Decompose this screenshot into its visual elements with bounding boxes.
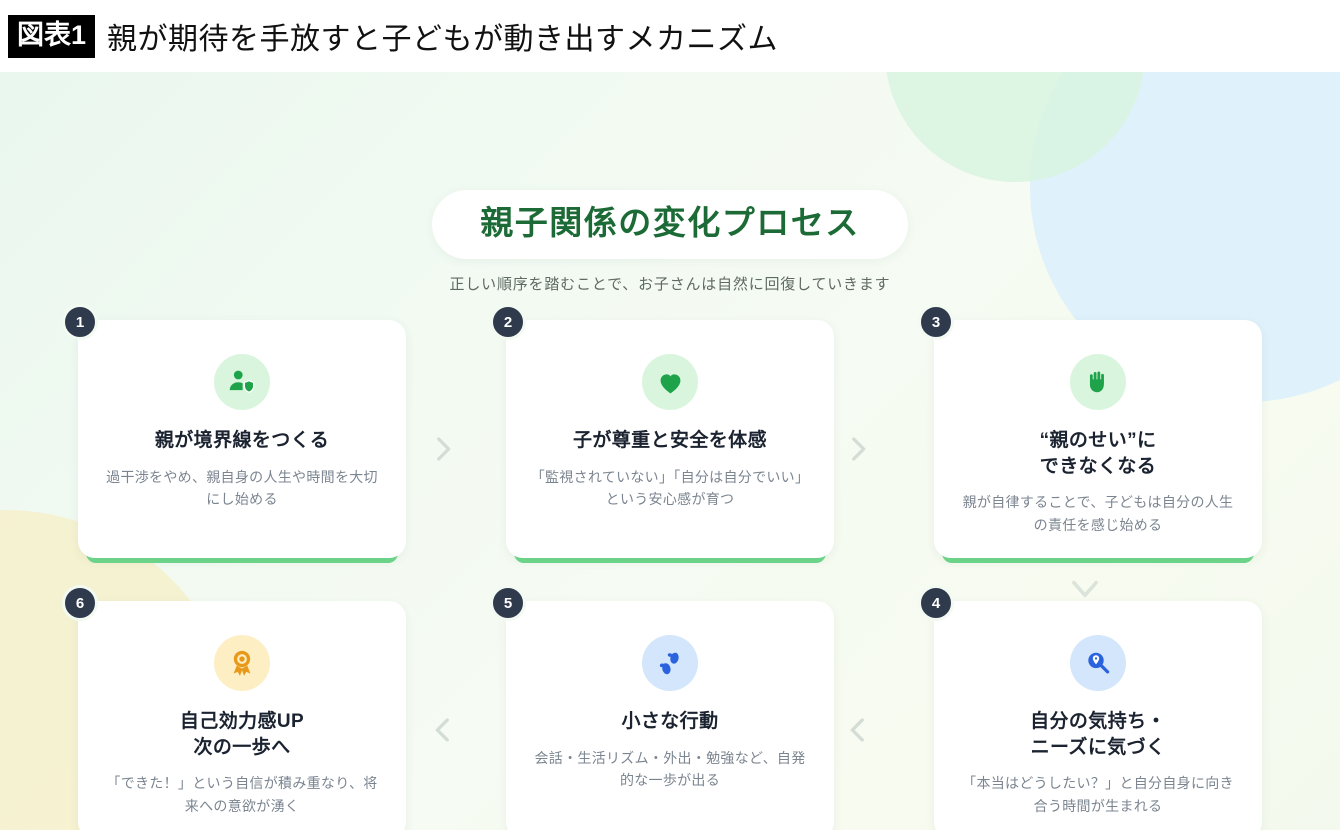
chevron-right-icon xyxy=(841,432,875,466)
figure-number-badge: 図表1 xyxy=(8,15,95,58)
step-number-badge-6: 6 xyxy=(62,585,98,621)
step-card-5[interactable]: 5 小さな行動 会話・生活リズム・外出・勉強など、自発的な一歩が出る xyxy=(506,601,834,830)
step-desc-6: 「できた！」という自信が積み重なり、将来への意欲が湧く xyxy=(100,772,384,817)
step-card-4[interactable]: 4 自分の気持ち・ ニーズに気づく 「本当はどうしたい？」と自分自身に向き合う時… xyxy=(934,601,1262,830)
person-shield-icon xyxy=(214,354,270,410)
step-desc-1: 過干渉をやめ、親自身の人生や時間を大切にし始める xyxy=(100,466,384,511)
step-card-3[interactable]: 3 “親のせい”に できなくなる 親が自律することで、子どもは自分の人生の責任を… xyxy=(934,320,1262,558)
step-slot-5: 5 小さな行動 会話・生活リズム・外出・勉強など、自発的な一歩が出る xyxy=(506,601,834,830)
hero-title-pill: 親子関係の変化プロセス xyxy=(432,190,908,259)
diagram-canvas: 親子関係の変化プロセス 正しい順序を踏むことで、お子さんは自然に回復していきます… xyxy=(0,72,1340,830)
step-card-2[interactable]: 2 子が尊重と安全を体感 「監視されていない」「自分は自分でいい」という安心感が… xyxy=(506,320,834,558)
step-card-6[interactable]: 6 自己効力感UP 次の一歩へ 「できた！」という自信が積み重なり、将来への意欲… xyxy=(78,601,406,830)
hero-heading-block: 親子関係の変化プロセス 正しい順序を踏むことで、お子さんは自然に回復していきます xyxy=(0,190,1340,294)
step-slot-3: 3 “親のせい”に できなくなる 親が自律することで、子どもは自分の人生の責任を… xyxy=(934,320,1262,558)
chevron-right-icon xyxy=(426,432,460,466)
heart-icon xyxy=(642,354,698,410)
step-slot-4: 4 自分の気持ち・ ニーズに気づく 「本当はどうしたい？」と自分自身に向き合う時… xyxy=(934,601,1262,830)
steps-row-bottom: 6 自己効力感UP 次の一歩へ 「できた！」という自信が積み重なり、将来への意欲… xyxy=(78,601,1262,830)
step-title-6: 自己効力感UP 次の一歩へ xyxy=(100,709,384,760)
chevron-left-icon xyxy=(426,713,460,747)
step-slot-1: 1 親が境界線をつくる 過干渉をやめ、親自身の人生や時間を大切にし始める xyxy=(78,320,406,558)
figure-header: 図表1 親が期待を手放すと子どもが動き出すメカニズム xyxy=(0,0,1340,72)
steps-grid: 1 親が境界線をつくる 過干渉をやめ、親自身の人生や時間を大切にし始める xyxy=(78,320,1262,830)
step-title-2: 子が尊重と安全を体感 xyxy=(528,428,812,454)
step-card-1[interactable]: 1 親が境界線をつくる 過干渉をやめ、親自身の人生や時間を大切にし始める xyxy=(78,320,406,558)
hero-title: 親子関係の変化プロセス xyxy=(480,203,860,243)
step-desc-5: 会話・生活リズム・外出・勉強など、自発的な一歩が出る xyxy=(528,747,812,792)
step-number-badge-3: 3 xyxy=(918,304,954,340)
step-desc-3: 親が自律することで、子どもは自分の人生の責任を感じ始める xyxy=(956,491,1240,536)
chevron-down-icon xyxy=(1066,576,1104,602)
figure-title: 親が期待を手放すと子どもが動き出すメカニズム xyxy=(107,14,778,58)
step-number-badge-5: 5 xyxy=(490,585,526,621)
decorative-blob-green-top xyxy=(885,72,1145,182)
step-title-5: 小さな行動 xyxy=(528,709,812,735)
chevron-left-icon xyxy=(841,713,875,747)
hero-subtitle: 正しい順序を踏むことで、お子さんは自然に回復していきます xyxy=(0,273,1340,294)
step-title-3: “親のせい”に できなくなる xyxy=(956,428,1240,479)
steps-row-top: 1 親が境界線をつくる 過干渉をやめ、親自身の人生や時間を大切にし始める xyxy=(78,320,1262,558)
step-title-4: 自分の気持ち・ ニーズに気づく xyxy=(956,709,1240,760)
raised-hand-icon xyxy=(1070,354,1126,410)
step-slot-2: 2 子が尊重と安全を体感 「監視されていない」「自分は自分でいい」という安心感が… xyxy=(506,320,834,558)
step-number-badge-2: 2 xyxy=(490,304,526,340)
step-number-badge-1: 1 xyxy=(62,304,98,340)
step-slot-6: 6 自己効力感UP 次の一歩へ 「できた！」という自信が積み重なり、将来への意欲… xyxy=(78,601,406,830)
step-number-badge-4: 4 xyxy=(918,585,954,621)
footprints-icon xyxy=(642,635,698,691)
step-desc-4: 「本当はどうしたい？」と自分自身に向き合う時間が生まれる xyxy=(956,772,1240,817)
step-title-1: 親が境界線をつくる xyxy=(100,428,384,454)
step-desc-2: 「監視されていない」「自分は自分でいい」という安心感が育つ xyxy=(528,466,812,511)
search-pin-icon xyxy=(1070,635,1126,691)
award-medal-icon xyxy=(214,635,270,691)
